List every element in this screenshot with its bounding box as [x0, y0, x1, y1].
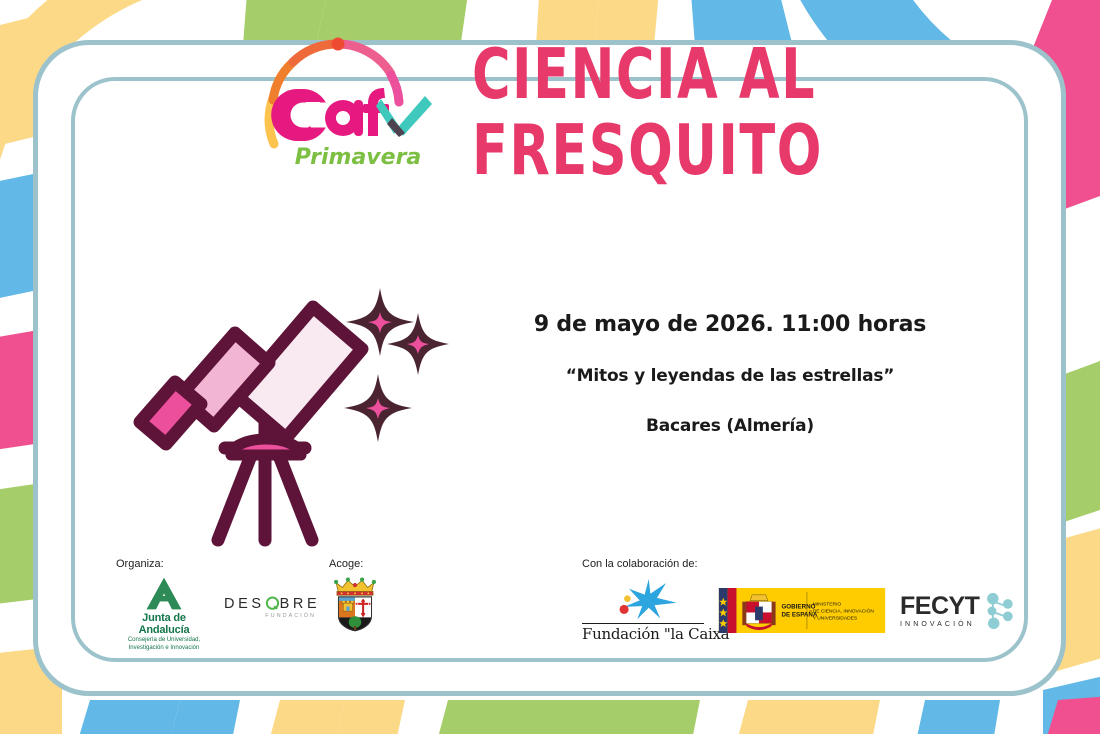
- desqbre-sub: FUNDACIÓN: [224, 613, 318, 619]
- desqbre-letters-before: DES: [224, 596, 265, 612]
- caf-wordmark: [271, 88, 389, 141]
- colaboracion-block: Con la colaboración de: Fundación "la Ca…: [582, 558, 1014, 643]
- acoge-label: Acoge:: [329, 558, 381, 570]
- event-subtitle: “Mitos y leyendas de las estrellas”: [510, 366, 950, 386]
- event-location: Bacares (Almería): [510, 416, 950, 436]
- ministerio-line1: MINISTERIO: [813, 602, 842, 608]
- telescope-eyepiece: [140, 382, 201, 444]
- fundacion-la-caixa-logo: Fundación "la Caixa": [582, 578, 704, 643]
- ministerio-line2: DE CIENCIA, INNOVACIÓN: [813, 607, 875, 614]
- title-line-2: FRESQUITO: [472, 116, 838, 185]
- fecyt-word: FECYT: [900, 594, 979, 619]
- gobierno-de-espana-logo: GOBIERNO DE ESPAÑA MINISTERIO DE CIENCIA…: [718, 588, 886, 633]
- title-line-1: CIENCIA AL: [472, 40, 838, 109]
- ministerio-line3: Y UNIVERSIDADES: [813, 615, 858, 621]
- gobierno-line1: GOBIERNO: [781, 604, 815, 611]
- bacares-coat-of-arms-icon: [329, 576, 381, 632]
- sparkle-star-icon-3: [344, 374, 412, 442]
- caf-arc-dot-icon: [332, 38, 345, 51]
- fecyt-dots-icon: [984, 592, 1014, 630]
- junta-de-andalucia-logo: Junta de Andalucía Consejería de Univers…: [116, 576, 212, 652]
- organiza-block: Organiza: Junta de Andalucía Consejería …: [116, 558, 318, 652]
- colaboracion-label: Con la colaboración de:: [582, 558, 1014, 570]
- junta-sub-line2: Investigación e Innovación: [116, 644, 212, 652]
- poster-root: Primavera CIENCIA AL FRESQUITO: [0, 0, 1100, 734]
- check-mark-icon: [376, 96, 432, 137]
- desqbre-q-icon: [265, 596, 280, 611]
- junta-sub-line1: Consejería de Universidad,: [116, 636, 212, 644]
- caf-primavera-logo: Primavera: [258, 36, 454, 176]
- desqbre-fundacion-logo: DES BRE FUNDACIÓN: [224, 596, 318, 633]
- fecyt-logo: FECYT INNOVACIÓN: [900, 592, 1014, 630]
- poster-footer: Organiza: Junta de Andalucía Consejería …: [0, 548, 1100, 658]
- junta-name: Junta de Andalucía: [116, 612, 212, 636]
- event-details: 9 de mayo de 2026. 11:00 horas “Mitos y …: [510, 312, 950, 436]
- telescope-illustration: [100, 250, 490, 550]
- event-date: 9 de mayo de 2026. 11:00 horas: [510, 312, 950, 337]
- acoge-block: Acoge:: [329, 558, 381, 632]
- desqbre-letters-after: BRE: [280, 596, 321, 612]
- junta-andalucia-mark-icon: [136, 576, 192, 611]
- organiza-label: Organiza:: [116, 558, 318, 570]
- caixa-star-icon: [606, 578, 680, 621]
- poster-header: Primavera CIENCIA AL FRESQUITO: [0, 36, 1100, 193]
- caixa-name: Fundación "la Caixa": [582, 623, 704, 643]
- fecyt-sub: INNOVACIÓN: [900, 621, 979, 628]
- caf-primavera-label: Primavera: [295, 145, 422, 170]
- poster-title-block: CIENCIA AL FRESQUITO: [472, 36, 842, 193]
